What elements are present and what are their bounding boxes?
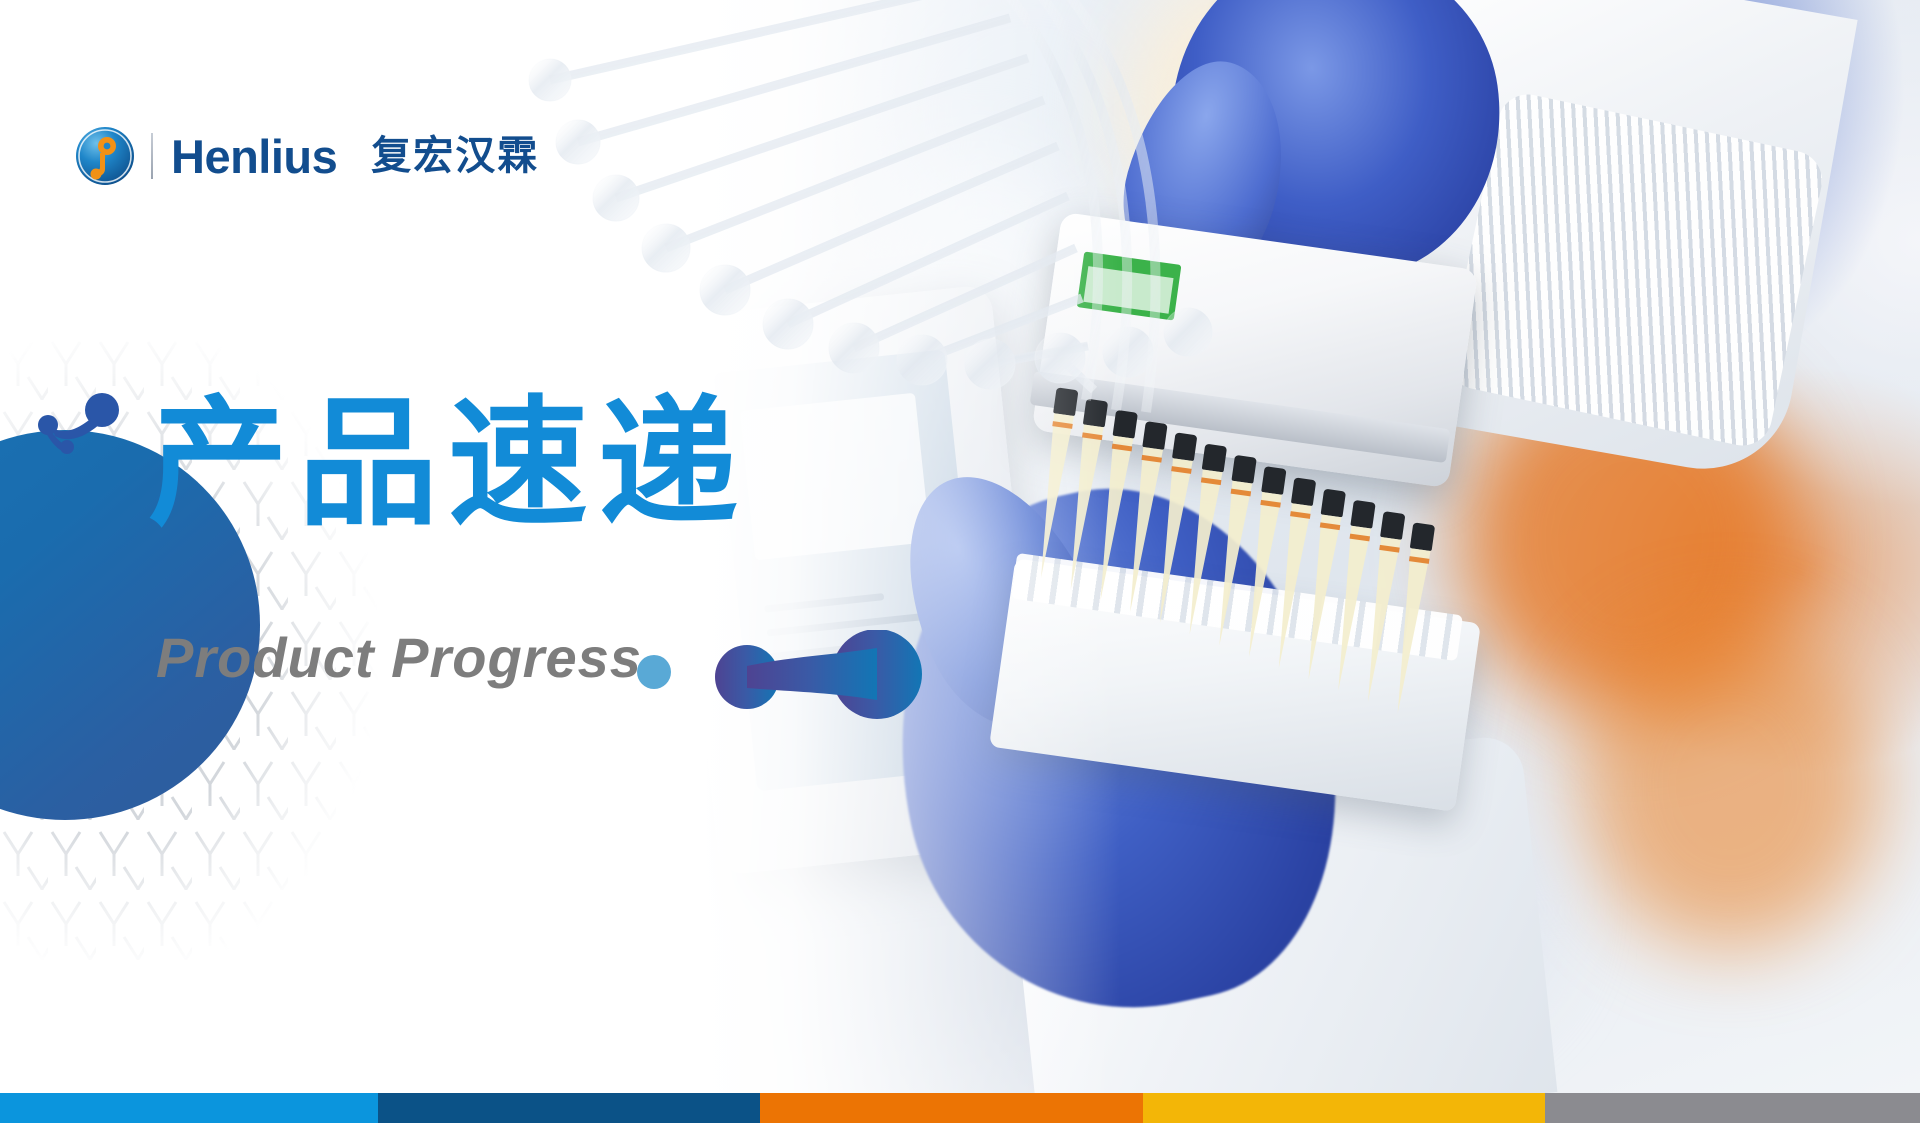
henlius-molecule-icon xyxy=(75,126,135,186)
lab-photo xyxy=(700,0,1920,1095)
bottom-bar-segment-amber xyxy=(1143,1093,1545,1123)
company-logo[interactable]: Henlius 复宏汉霖 xyxy=(75,125,539,187)
photo-bokeh-blob xyxy=(1580,620,1880,950)
molecule-link-icon xyxy=(705,630,935,720)
photo-left-fade xyxy=(700,0,1120,1095)
decorative-dot xyxy=(637,655,671,689)
bottom-color-bar xyxy=(0,1093,1920,1123)
presentation-slide: Henlius 复宏汉霖 产品速递 Product Progress xyxy=(0,0,1920,1123)
molecule-icon xyxy=(28,392,128,458)
logo-wordmark: Henlius xyxy=(171,133,337,180)
page-title: 产品速递 xyxy=(148,382,748,547)
bottom-bar-segment-orange xyxy=(760,1093,1143,1123)
logo-divider xyxy=(151,133,153,179)
logo-chinese-name: 复宏汉霖 xyxy=(371,136,539,176)
page-subtitle: Product Progress xyxy=(156,630,642,686)
bottom-bar-segment-dark-blue xyxy=(378,1093,760,1123)
bottom-bar-segment-gray xyxy=(1545,1093,1920,1123)
bottom-bar-segment-light-blue xyxy=(0,1093,378,1123)
